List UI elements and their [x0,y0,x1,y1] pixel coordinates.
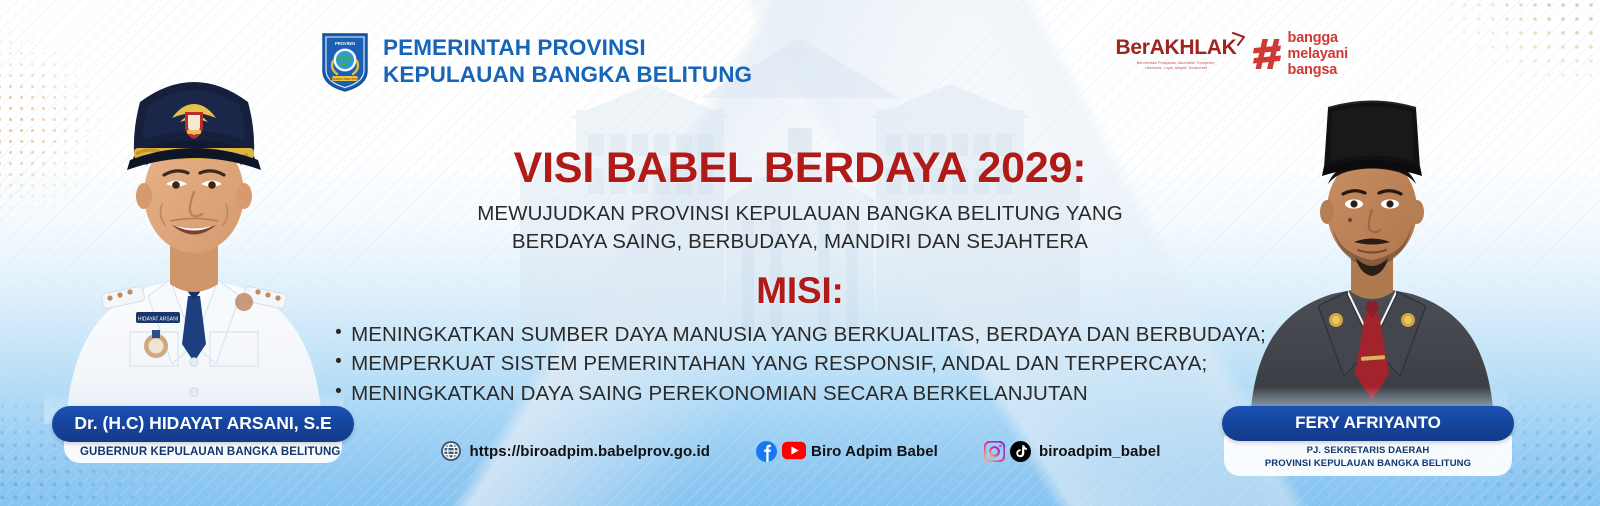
secretary-nameplate: PJ. SEKRETARIS DAERAH PROVINSI KEPULAUAN… [1222,406,1514,441]
vision-statement: MEWUJUDKAN PROVINSI KEPULAUAN BANGKA BEL… [0,200,1600,257]
facebook-icon[interactable] [756,441,777,462]
bangga-melayani-bangsa-text: bangga melayani bangsa [1288,30,1348,79]
vision-heading: VISI BABEL BERDAYA 2029: [0,146,1600,191]
government-title-line1: PEMERINTAH PROVINSI [383,35,752,62]
secretary-name: FERY AFRIYANTO [1222,406,1514,441]
berakhlak-logo: BerAKHLAK Berorientasi Pelayanan, Akunta… [1116,37,1237,72]
bangga-melayani-bangsa-logo: bangga melayani bangsa [1253,30,1348,79]
vision-statement-line1: MEWUJUDKAN PROVINSI KEPULAUAN BANGKA BEL… [0,200,1600,228]
government-title: PEMERINTAH PROVINSI KEPULAUAN BANGKA BEL… [383,35,752,88]
instagram-tiktok-link[interactable]: biroadpim_babel [984,441,1161,462]
berakhlak-swoosh-icon [1232,32,1246,46]
vision-statement-line2: BERDAYA SAING, BERBUDAYA, MANDIRI DAN SE… [0,228,1600,256]
svg-text:BANGKA BELITUNG: BANGKA BELITUNG [330,77,361,81]
tiktok-icon[interactable] [1010,441,1031,462]
berakhlak-tagline: Berorientasi Pelayanan, Akuntabel, Kompe… [1116,61,1237,72]
globe-icon[interactable] [440,440,462,462]
instagram-tiktok-handle[interactable]: biroadpim_babel [1039,443,1161,460]
mission-item: MENINGKATKAN SUMBER DAYA MANUSIA YANG BE… [334,320,1266,350]
bmb-line1: bangga [1288,30,1348,46]
berakhlak-tagline-line2: Harmonis, Loyal, Adaptif, Kolaboratif [1116,66,1237,71]
governor-name: Dr. (H.C) HIDAYAT ARSANI, S.E [52,406,354,442]
svg-text:PROVINSI: PROVINSI [335,41,355,46]
website-url[interactable]: https://biroadpim.babelprov.go.id [470,443,711,460]
provincial-government-banner: PROVINSI BANGKA BELITUNG PEMERINTAH PROV… [0,0,1600,506]
website-link[interactable]: https://biroadpim.babelprov.go.id [440,440,711,462]
website-icon-group [440,440,462,462]
hashtag-icon [1253,37,1283,71]
mission-item: MEMPERKUAT SISTEM PEMERINTAHAN YANG RESP… [334,349,1266,379]
mission-heading: MISI: [0,272,1600,311]
vision-mission-block: VISI BABEL BERDAYA 2029: MEWUJUDKAN PROV… [0,146,1600,409]
facebook-youtube-link[interactable]: Biro Adpim Babel [756,441,938,462]
government-header: PROVINSI BANGKA BELITUNG PEMERINTAH PROV… [320,31,752,93]
core-values-logos: BerAKHLAK Berorientasi Pelayanan, Akunta… [1116,30,1348,79]
government-title-line2: KEPULAUAN BANGKA BELITUNG [383,62,752,89]
bmb-line2: melayani [1288,46,1348,62]
berakhlak-wordmark: BerAKHLAK [1116,37,1237,58]
mission-list: MENINGKATKAN SUMBER DAYA MANUSIA YANG BE… [334,320,1266,410]
mission-item: MENINGKATKAN DAYA SAING PEREKONOMIAN SEC… [334,379,1266,409]
instagram-icon[interactable] [984,441,1005,462]
bmb-line3: bangsa [1288,62,1348,78]
youtube-icon[interactable] [782,441,803,462]
social-media-bar: https://biroadpim.babelprov.go.id Bir [0,440,1600,462]
dot-grid-top-right [1444,0,1600,88]
facebook-youtube-icon-group [756,441,803,462]
facebook-youtube-handle[interactable]: Biro Adpim Babel [811,443,938,460]
bangka-belitung-provincial-emblem-icon: PROVINSI BANGKA BELITUNG [320,31,370,93]
governor-nameplate: GUBERNUR KEPULAUAN BANGKA BELITUNG Dr. (… [52,406,354,442]
instagram-tiktok-icon-group [984,441,1031,462]
